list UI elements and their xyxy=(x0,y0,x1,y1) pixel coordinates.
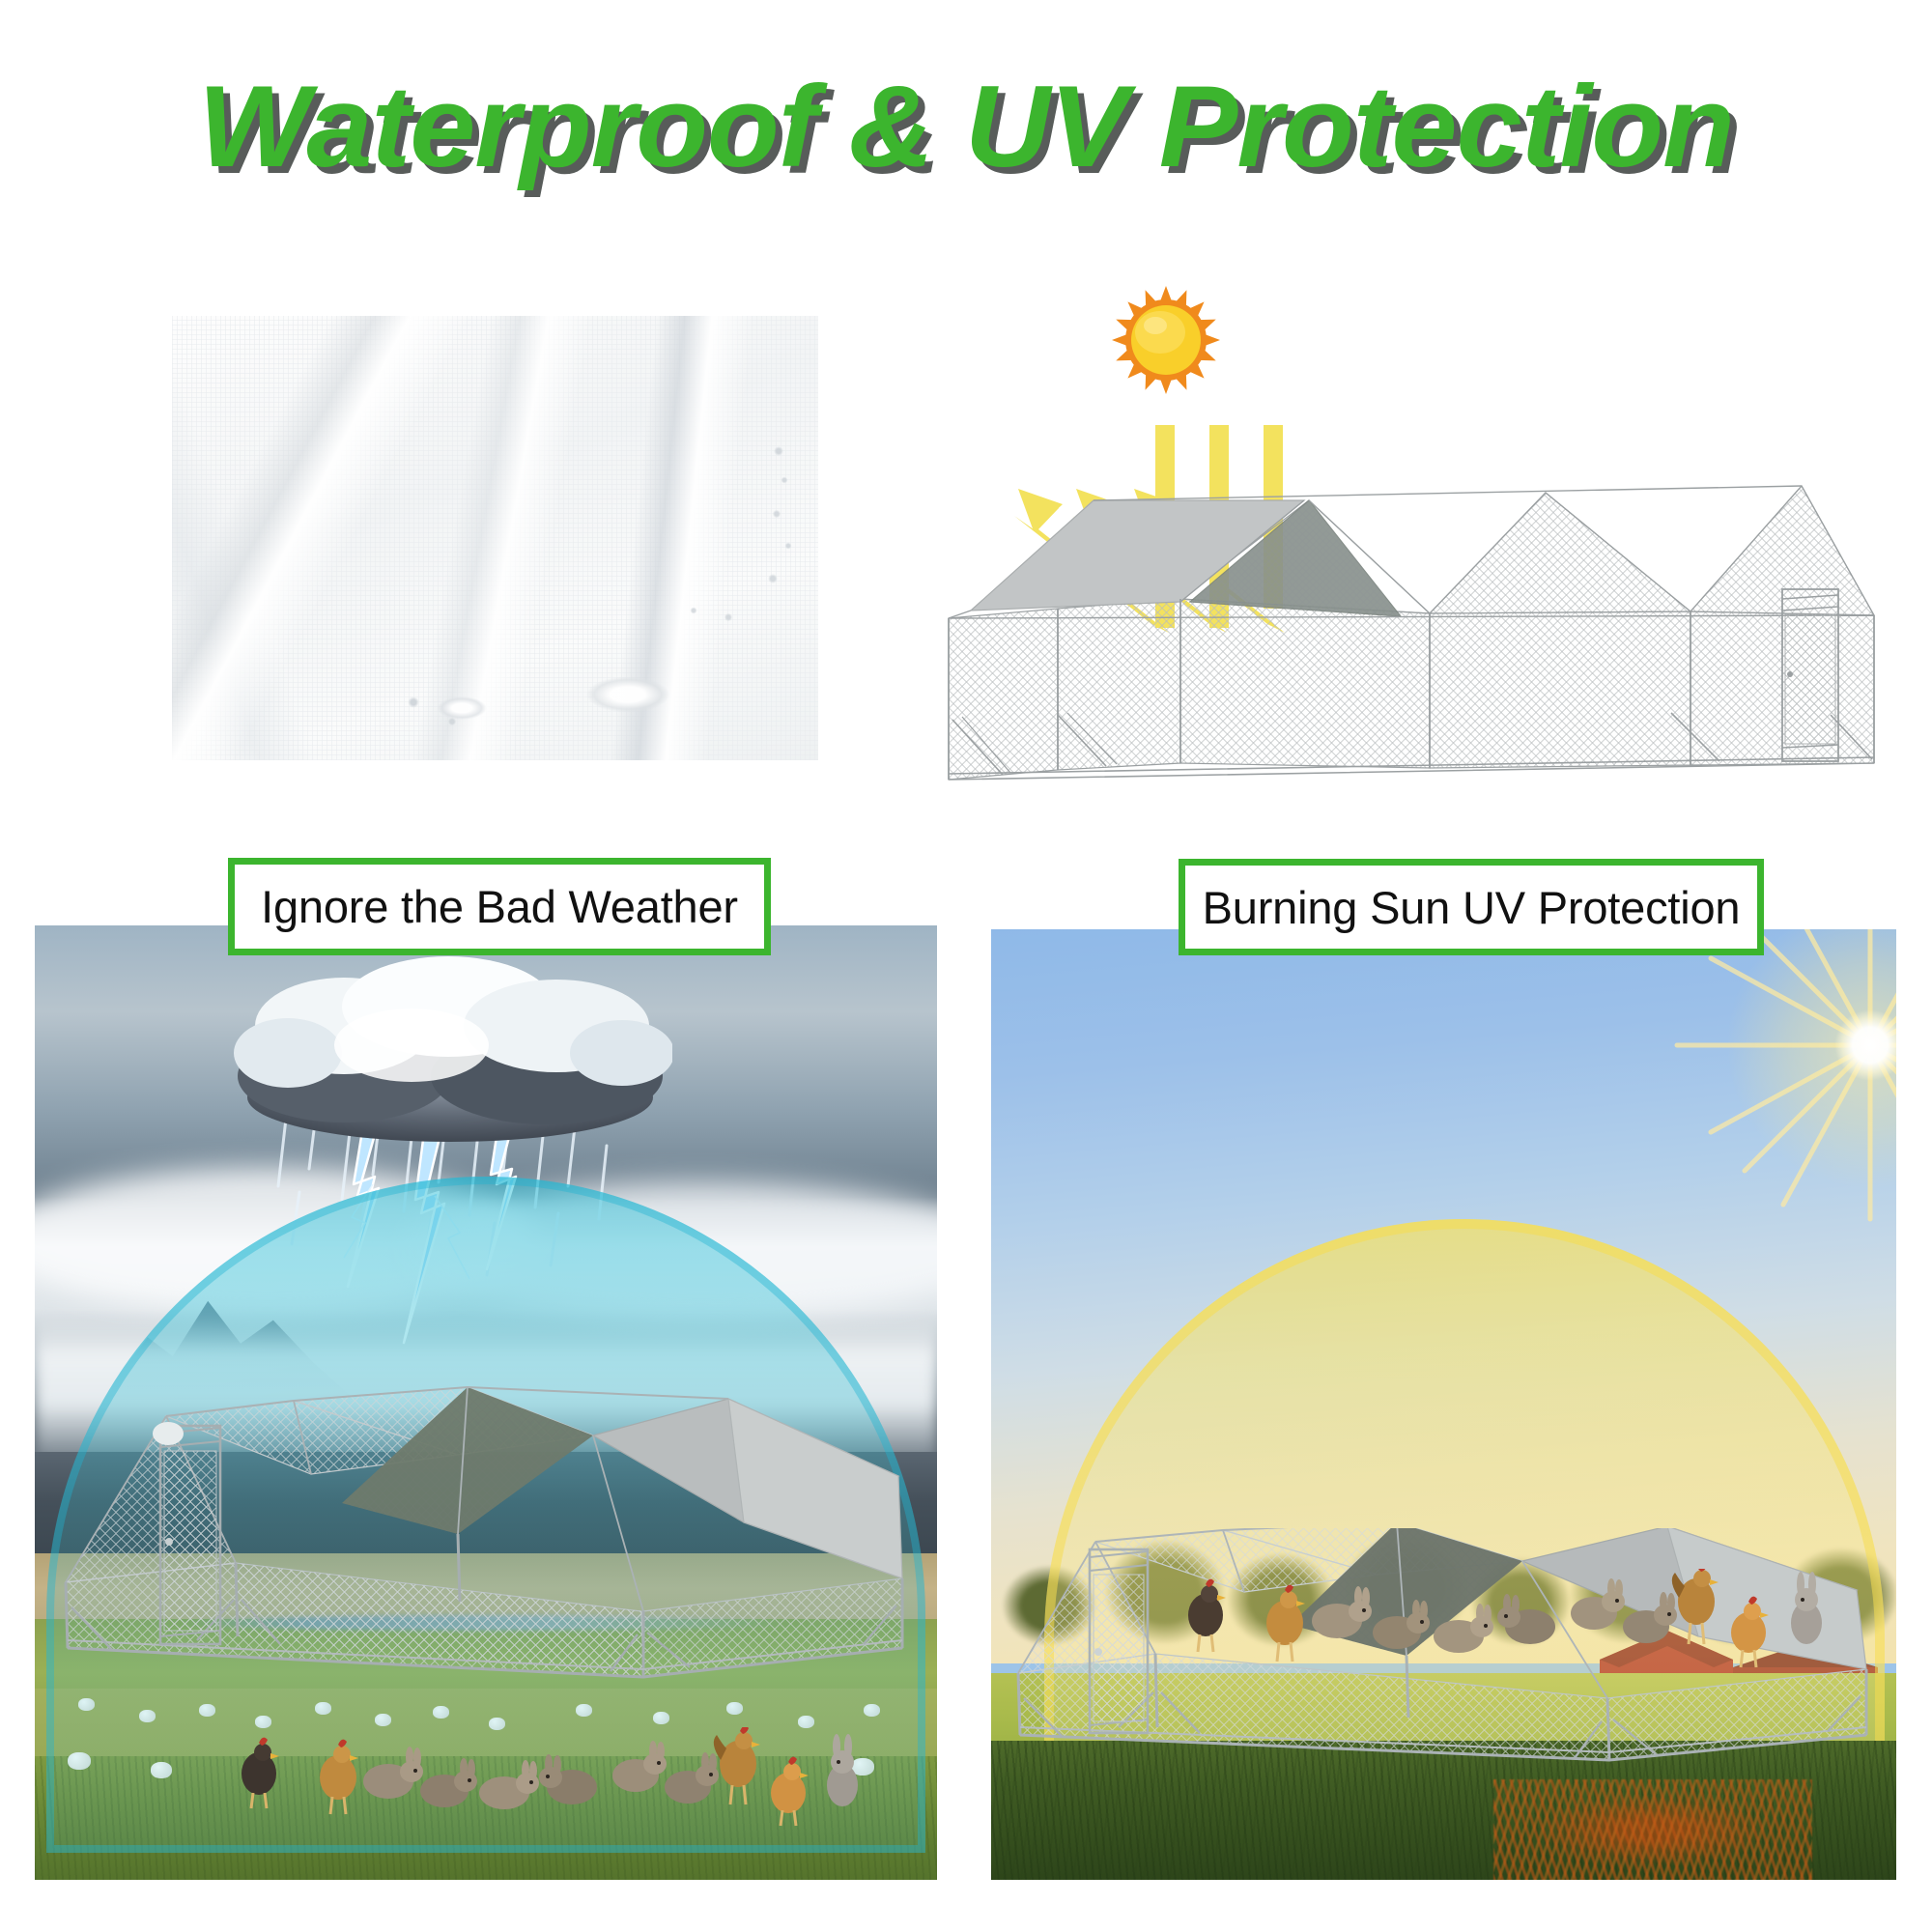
chicken xyxy=(1672,1569,1719,1644)
callout-right-label: Burning Sun UV Protection xyxy=(1203,885,1741,930)
rabbit xyxy=(1623,1592,1677,1643)
chicken xyxy=(1188,1579,1226,1652)
coop-animals xyxy=(238,1727,875,1843)
chicken xyxy=(1266,1585,1305,1662)
rabbit xyxy=(665,1752,719,1804)
sun-icon xyxy=(1109,283,1223,397)
callout-ignore-bad-weather: Ignore the Bad Weather xyxy=(228,858,771,955)
rain-cloud xyxy=(228,952,672,1146)
rabbit xyxy=(827,1734,858,1806)
rabbit xyxy=(539,1754,597,1804)
rabbit xyxy=(479,1760,539,1809)
coop-animals xyxy=(1184,1569,1841,1685)
rabbit xyxy=(1312,1586,1372,1638)
chicken xyxy=(771,1757,809,1826)
waterproof-fabric-swatch xyxy=(172,316,818,760)
chicken xyxy=(1731,1597,1769,1667)
rabbit xyxy=(420,1758,477,1807)
chicken xyxy=(714,1727,760,1804)
rabbit xyxy=(1373,1600,1430,1649)
rabbit xyxy=(1434,1604,1493,1653)
chicken-coop-product xyxy=(52,1358,922,1764)
rabbit xyxy=(612,1741,667,1792)
chicken xyxy=(320,1740,358,1814)
sunny-uv-photo xyxy=(991,929,1896,1880)
rabbit xyxy=(1791,1572,1822,1644)
chicken xyxy=(241,1738,279,1808)
rabbit xyxy=(363,1747,423,1799)
coop-wireframe-diagram xyxy=(927,473,1903,811)
sun-flare xyxy=(1648,929,1896,1267)
page-title: Waterproof & UV Protection xyxy=(0,60,1932,193)
storm-weather-photo xyxy=(35,925,937,1880)
callout-burning-sun-uv-protection: Burning Sun UV Protection xyxy=(1179,859,1764,955)
infographic-canvas: Waterproof & UV Protection xyxy=(0,0,1932,1932)
callout-left-label: Ignore the Bad Weather xyxy=(261,884,738,929)
rabbit xyxy=(1571,1578,1625,1630)
rabbit xyxy=(1497,1594,1555,1644)
